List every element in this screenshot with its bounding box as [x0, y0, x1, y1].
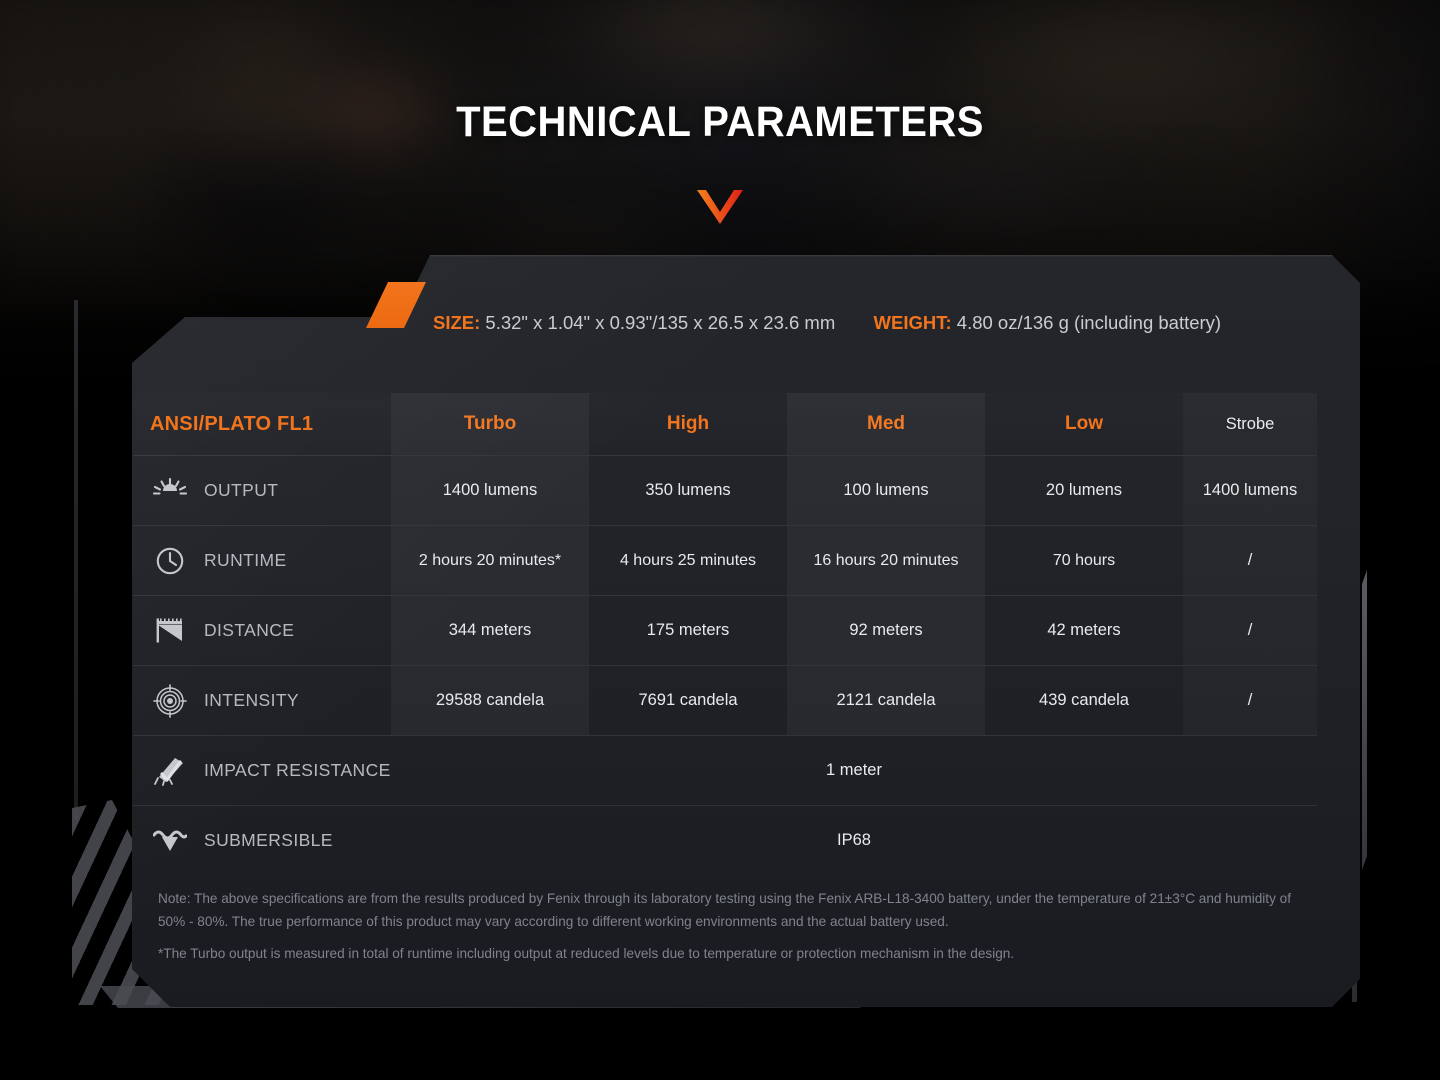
footnote-asterisk: *The Turbo output is measured in total o…	[158, 943, 1308, 966]
row-label: SUBMERSIBLE	[204, 830, 333, 851]
cell-low: 20 lumens	[985, 456, 1183, 525]
header-high: High	[589, 393, 787, 455]
cell-med: 100 lumens	[787, 456, 985, 525]
cell-strobe: 1400 lumens	[1183, 456, 1317, 525]
chevron-down-icon	[697, 190, 743, 224]
row-label-cell: IMPACT RESISTANCE	[133, 736, 391, 805]
cell-turbo: 1400 lumens	[391, 456, 589, 525]
cell-strobe: /	[1183, 666, 1317, 735]
cell-strobe: /	[1183, 596, 1317, 665]
spec-table: ANSI/PLATO FL1 Turbo High Med Low Strobe	[133, 393, 1317, 875]
footnote-block: Note: The above specifications are from …	[158, 888, 1308, 966]
cell-med: 2121 candela	[787, 666, 985, 735]
size-weight-line: SIZE: 5.32" x 1.04" x 0.93"/135 x 26.5 x…	[433, 308, 1333, 338]
header-low: Low	[985, 393, 1183, 455]
header-ansi-plato: ANSI/PLATO FL1	[133, 393, 391, 455]
water-wave-icon	[150, 824, 190, 858]
cell-high: 7691 candela	[589, 666, 787, 735]
cell-med: 16 hours 20 minutes	[787, 526, 985, 595]
cell-low: 42 meters	[985, 596, 1183, 665]
cell-low: 439 candela	[985, 666, 1183, 735]
table-header-row: ANSI/PLATO FL1 Turbo High Med Low Strobe	[133, 393, 1317, 455]
table-row: RUNTIME 2 hours 20 minutes* 4 hours 25 m…	[133, 525, 1317, 595]
header-turbo: Turbo	[391, 393, 589, 455]
row-label-cell: SUBMERSIBLE	[133, 806, 391, 875]
weight-label: WEIGHT:	[874, 312, 952, 333]
table-row: OUTPUT 1400 lumens 350 lumens 100 lumens…	[133, 455, 1317, 525]
cell-med: 92 meters	[787, 596, 985, 665]
cell-submersible-value: IP68	[391, 806, 1317, 875]
table-row: IMPACT RESISTANCE 1 meter	[133, 735, 1317, 805]
page-title: TECHNICAL PARAMETERS	[50, 98, 1389, 147]
row-label: OUTPUT	[204, 480, 278, 501]
row-label: RUNTIME	[204, 550, 287, 571]
row-label-cell: DISTANCE	[133, 596, 391, 665]
row-label-cell: OUTPUT	[133, 456, 391, 525]
row-label-cell: INTENSITY	[133, 666, 391, 735]
target-intensity-icon	[150, 684, 190, 718]
row-label: DISTANCE	[204, 620, 294, 641]
footnote-note: Note: The above specifications are from …	[158, 888, 1308, 933]
clock-icon	[150, 544, 190, 578]
weight-value: 4.80 oz/136 g (including battery)	[957, 312, 1221, 333]
size-label: SIZE:	[433, 312, 480, 333]
cell-turbo: 344 meters	[391, 596, 589, 665]
row-label: INTENSITY	[204, 690, 299, 711]
table-row: INTENSITY 29588 candela 7691 candela 212…	[133, 665, 1317, 735]
beam-distance-icon	[150, 614, 190, 648]
header-strobe: Strobe	[1183, 393, 1317, 455]
cell-low: 70 hours	[985, 526, 1183, 595]
cell-strobe: /	[1183, 526, 1317, 595]
table-row: SUBMERSIBLE IP68	[133, 805, 1317, 875]
frame-accent-right	[1362, 570, 1367, 870]
sunburst-icon	[150, 474, 190, 508]
table-row: DISTANCE 344 meters 175 meters 92 meters…	[133, 595, 1317, 665]
cell-high: 4 hours 25 minutes	[589, 526, 787, 595]
impact-drop-icon	[150, 754, 190, 788]
cell-impact-value: 1 meter	[391, 736, 1317, 805]
row-label-cell: RUNTIME	[133, 526, 391, 595]
size-value: 5.32" x 1.04" x 0.93"/135 x 26.5 x 23.6 …	[485, 312, 835, 333]
cell-turbo: 2 hours 20 minutes*	[391, 526, 589, 595]
cell-high: 350 lumens	[589, 456, 787, 525]
frame-accent-left	[74, 300, 78, 820]
cell-turbo: 29588 candela	[391, 666, 589, 735]
row-label: IMPACT RESISTANCE	[204, 760, 391, 781]
header-med: Med	[787, 393, 985, 455]
cell-high: 175 meters	[589, 596, 787, 665]
